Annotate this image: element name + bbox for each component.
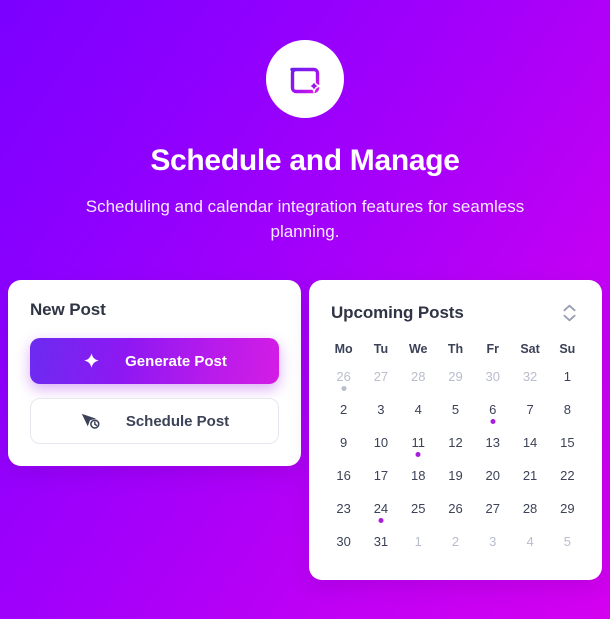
calendar-day-number: 26	[448, 501, 462, 516]
calendar-day-cell[interactable]: 4	[400, 397, 437, 430]
calendar-day-cell[interactable]: 22	[549, 463, 586, 496]
calendar-day-cell[interactable]: 9	[325, 430, 362, 463]
calendar-day-cell[interactable]: 27	[362, 364, 399, 397]
calendar-day-cell[interactable]: 6	[474, 397, 511, 430]
calendar-day-cell[interactable]: 11	[400, 430, 437, 463]
calendar-day-cell[interactable]: 13	[474, 430, 511, 463]
calendar-day-number: 2	[452, 534, 459, 549]
calendar-day-cell[interactable]: 10	[362, 430, 399, 463]
calendar-day-cell[interactable]: 29	[437, 364, 474, 397]
calendar-day-number: 28	[411, 369, 425, 384]
calendar-day-cell[interactable]: 31	[362, 529, 399, 562]
calendar-day-cell[interactable]: 24	[362, 496, 399, 529]
calendar-day-number: 21	[523, 468, 537, 483]
calendar-weekday-header: Sat	[511, 342, 548, 364]
calendar-header: Upcoming Posts	[325, 298, 586, 326]
calendar-day-number: 25	[411, 501, 425, 516]
calendar-day-number: 30	[336, 534, 350, 549]
calendar-day-cell[interactable]: 18	[400, 463, 437, 496]
calendar-day-number: 27	[374, 369, 388, 384]
calendar-day-cell[interactable]: 25	[400, 496, 437, 529]
calendar-sparkle-badge	[266, 40, 344, 118]
calendar-day-number: 15	[560, 435, 574, 450]
calendar-weekday-header: Tu	[362, 342, 399, 364]
calendar-day-number: 4	[415, 402, 422, 417]
calendar-day-number: 1	[564, 369, 571, 384]
calendar-day-number: 23	[336, 501, 350, 516]
calendar-day-cell[interactable]: 3	[362, 397, 399, 430]
page-title: Schedule and Manage	[0, 144, 610, 177]
calendar-day-number: 26	[336, 369, 350, 384]
calendar-day-number: 11	[411, 435, 425, 450]
calendar-day-number: 9	[340, 435, 347, 450]
upcoming-posts-card: Upcoming Posts MoTuWeThFrSatSu2627282930…	[309, 280, 602, 580]
calendar-day-number: 8	[564, 402, 571, 417]
calendar-grid: MoTuWeThFrSatSu2627282930321234567891011…	[325, 342, 586, 562]
calendar-day-number: 7	[526, 402, 533, 417]
calendar-day-number: 30	[486, 369, 500, 384]
calendar-day-cell[interactable]: 21	[511, 463, 548, 496]
calendar-day-number: 29	[560, 501, 574, 516]
calendar-day-cell[interactable]: 14	[511, 430, 548, 463]
post-indicator-dot	[341, 386, 346, 391]
calendar-day-number: 5	[452, 402, 459, 417]
calendar-day-cell[interactable]: 32	[511, 364, 548, 397]
schedule-post-button[interactable]: Schedule Post	[30, 398, 279, 444]
upcoming-posts-title: Upcoming Posts	[331, 303, 464, 323]
calendar-day-cell[interactable]: 8	[549, 397, 586, 430]
calendar-day-cell[interactable]: 20	[474, 463, 511, 496]
calendar-day-number: 31	[374, 534, 388, 549]
calendar-sparkle-icon	[283, 57, 327, 101]
post-indicator-dot	[416, 452, 421, 457]
calendar-day-cell[interactable]: 12	[437, 430, 474, 463]
calendar-day-number: 4	[526, 534, 533, 549]
calendar-day-cell[interactable]: 26	[437, 496, 474, 529]
calendar-day-number: 19	[448, 468, 462, 483]
calendar-day-cell[interactable]: 4	[511, 529, 548, 562]
calendar-day-cell[interactable]: 1	[400, 529, 437, 562]
new-post-card: New Post Generate Post Schedule Post	[8, 280, 301, 466]
calendar-day-cell[interactable]: 2	[437, 529, 474, 562]
chevron-up-down-icon[interactable]	[558, 300, 580, 326]
calendar-day-number: 16	[336, 468, 350, 483]
calendar-day-number: 24	[374, 501, 388, 516]
calendar-day-number: 5	[564, 534, 571, 549]
calendar-day-cell[interactable]: 23	[325, 496, 362, 529]
calendar-day-number: 29	[448, 369, 462, 384]
calendar-day-number: 3	[489, 534, 496, 549]
calendar-day-cell[interactable]: 1	[549, 364, 586, 397]
page-subtitle: Scheduling and calendar integration feat…	[0, 195, 610, 244]
calendar-day-cell[interactable]: 2	[325, 397, 362, 430]
calendar-day-cell[interactable]: 5	[437, 397, 474, 430]
chevron-up-icon	[563, 304, 576, 312]
calendar-day-number: 2	[340, 402, 347, 417]
calendar-day-cell[interactable]: 5	[549, 529, 586, 562]
calendar-day-number: 1	[415, 534, 422, 549]
calendar-day-number: 27	[486, 501, 500, 516]
calendar-day-cell[interactable]: 7	[511, 397, 548, 430]
calendar-day-cell[interactable]: 16	[325, 463, 362, 496]
calendar-weekday-header: We	[400, 342, 437, 364]
calendar-day-cell[interactable]: 28	[400, 364, 437, 397]
generate-post-label: Generate Post	[125, 353, 227, 370]
calendar-day-cell[interactable]: 19	[437, 463, 474, 496]
generate-post-button[interactable]: Generate Post	[30, 338, 279, 384]
calendar-day-cell[interactable]: 30	[474, 364, 511, 397]
post-indicator-dot	[490, 419, 495, 424]
calendar-day-number: 6	[489, 402, 496, 417]
hero-section: Schedule and Manage Scheduling and calen…	[0, 0, 610, 244]
schedule-post-label: Schedule Post	[126, 413, 229, 430]
post-indicator-dot	[378, 518, 383, 523]
calendar-day-number: 18	[411, 468, 425, 483]
calendar-day-number: 10	[374, 435, 388, 450]
calendar-day-number: 20	[486, 468, 500, 483]
calendar-day-number: 13	[486, 435, 500, 450]
calendar-day-cell[interactable]: 15	[549, 430, 586, 463]
cards-row: New Post Generate Post Schedule Post	[8, 280, 602, 580]
calendar-weekday-header: Su	[549, 342, 586, 364]
sparkle-icon	[82, 352, 101, 371]
calendar-day-number: 14	[523, 435, 537, 450]
calendar-weekday-header: Fr	[474, 342, 511, 364]
new-post-title: New Post	[30, 300, 279, 320]
calendar-day-number: 17	[374, 468, 388, 483]
calendar-day-number: 32	[523, 369, 537, 384]
send-clock-icon	[80, 411, 102, 431]
calendar-day-cell[interactable]: 26	[325, 364, 362, 397]
calendar-day-number: 3	[377, 402, 384, 417]
calendar-day-cell[interactable]: 3	[474, 529, 511, 562]
chevron-down-icon	[563, 314, 576, 322]
calendar-weekday-header: Mo	[325, 342, 362, 364]
calendar-day-cell[interactable]: 17	[362, 463, 399, 496]
calendar-day-cell[interactable]: 29	[549, 496, 586, 529]
calendar-day-number: 12	[448, 435, 462, 450]
calendar-day-number: 28	[523, 501, 537, 516]
calendar-day-number: 22	[560, 468, 574, 483]
calendar-weekday-header: Th	[437, 342, 474, 364]
calendar-day-cell[interactable]: 30	[325, 529, 362, 562]
calendar-day-cell[interactable]: 28	[511, 496, 548, 529]
calendar-day-cell[interactable]: 27	[474, 496, 511, 529]
